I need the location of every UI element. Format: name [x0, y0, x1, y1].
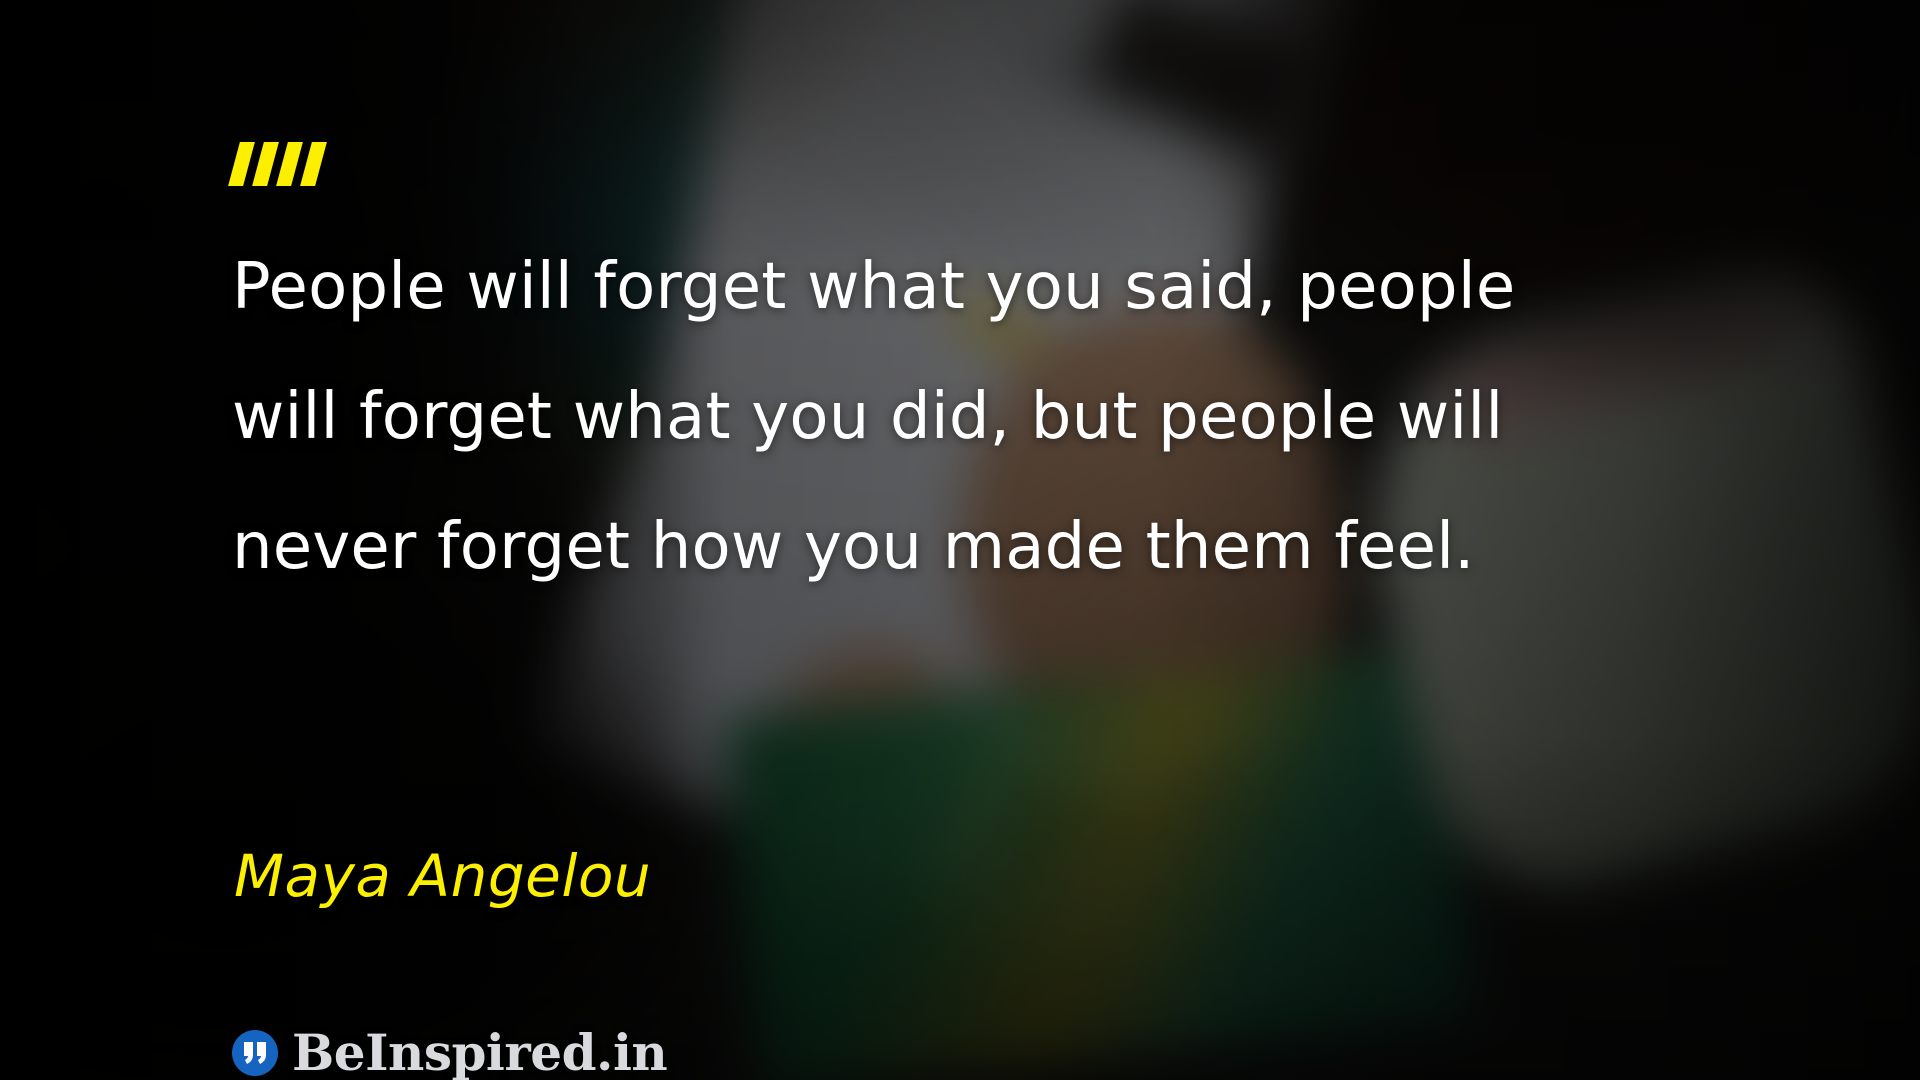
quote-author: Maya Angelou	[234, 842, 651, 910]
quote-card: People will forget what you said, people…	[0, 0, 1920, 1080]
quote-content: People will forget what you said, people…	[232, 0, 1692, 1080]
brand-name: BeInspired.in	[292, 1028, 667, 1078]
quote-text: People will forget what you said, people…	[232, 222, 1622, 612]
quote-bar	[252, 142, 279, 186]
quotation-mark-icon	[232, 1030, 278, 1076]
quote-bar	[276, 142, 303, 186]
brand-logo[interactable]: BeInspired.in	[232, 1028, 667, 1078]
quote-bars-icon	[234, 142, 321, 186]
quote-bar	[300, 142, 327, 186]
quote-bar	[228, 142, 255, 186]
